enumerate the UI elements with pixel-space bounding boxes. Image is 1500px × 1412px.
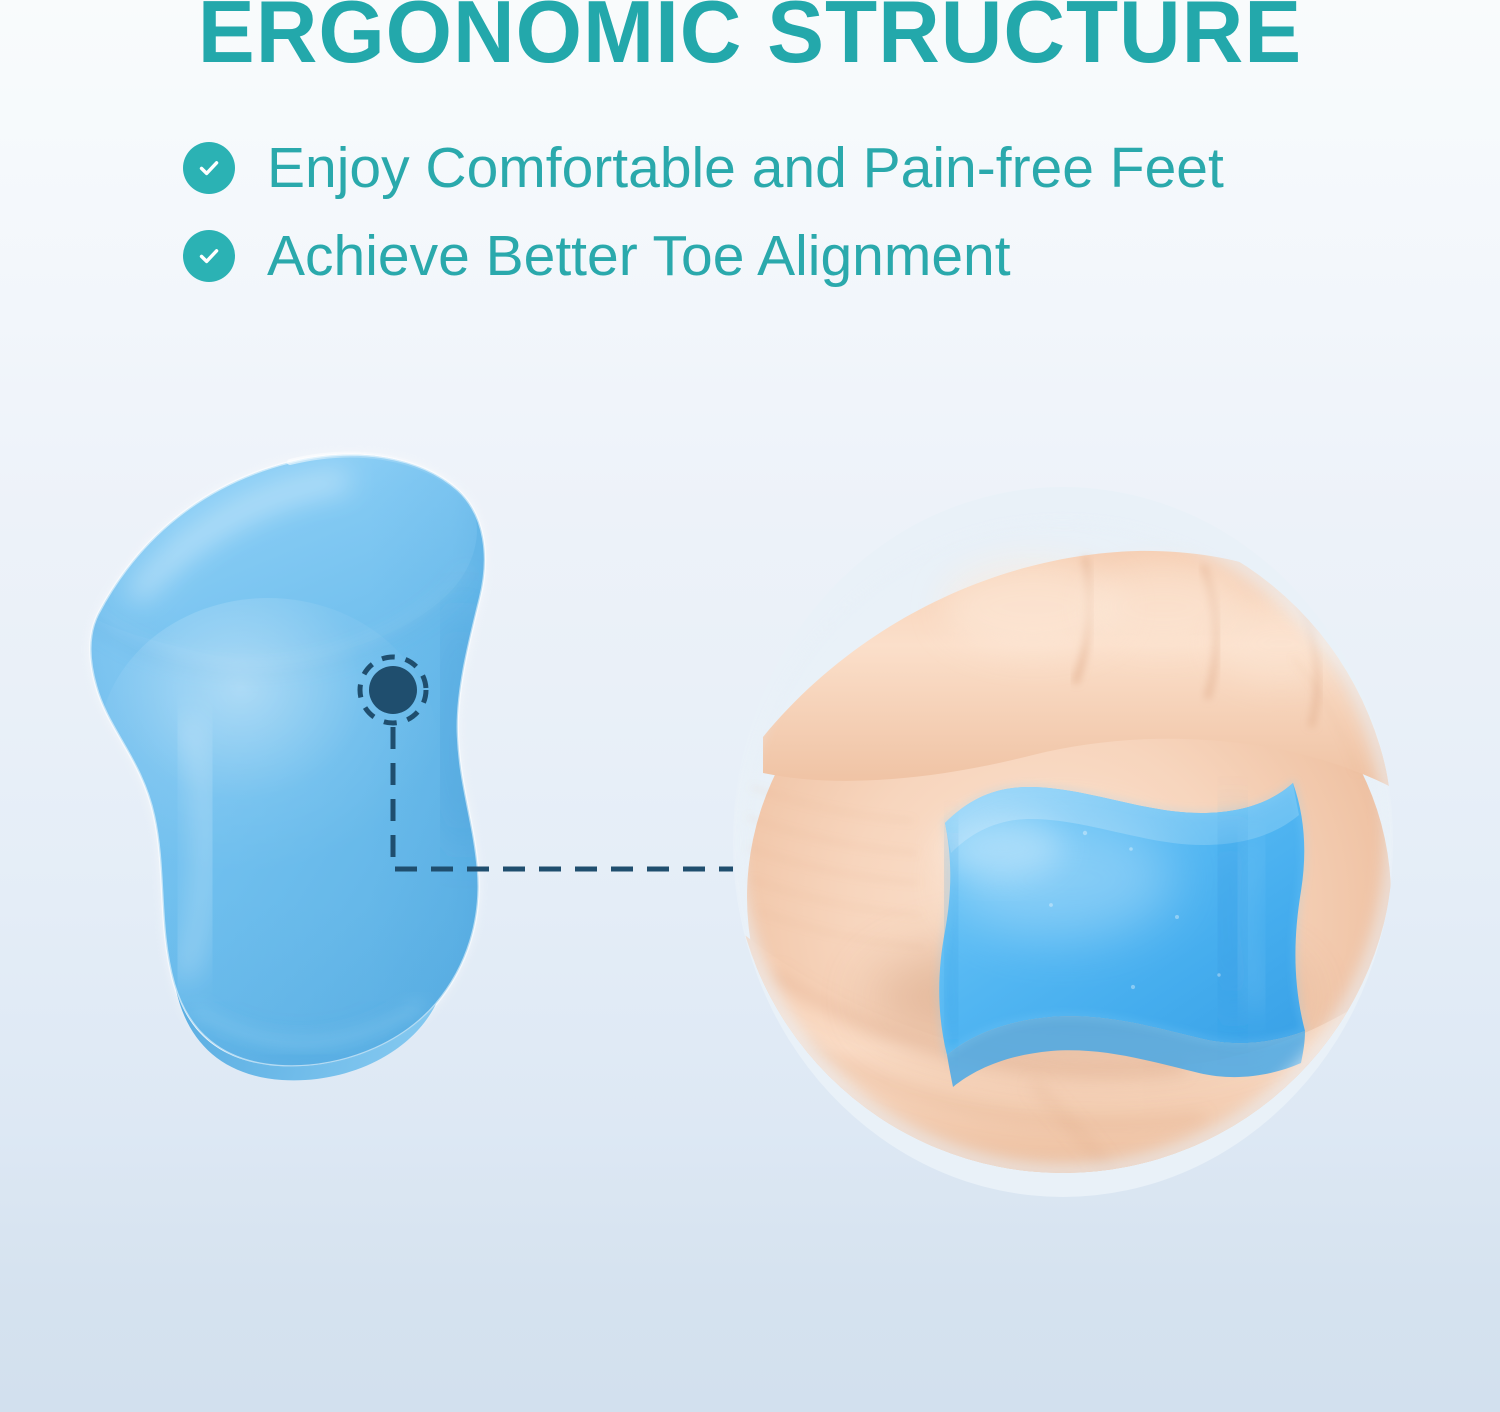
check-circle-icon	[183, 230, 235, 282]
list-item: Achieve Better Toe Alignment	[183, 212, 1383, 300]
check-circle-icon	[183, 142, 235, 194]
list-item-label: Enjoy Comfortable and Pain-free Feet	[267, 140, 1224, 197]
header: ERGONOMIC STRUCTURE Enjoy Comfortable an…	[0, 0, 1500, 300]
list-item-label: Achieve Better Toe Alignment	[267, 228, 1011, 285]
list-item: Enjoy Comfortable and Pain-free Feet	[183, 124, 1383, 212]
benefit-bullet-list: Enjoy Comfortable and Pain-free Feet Ach…	[183, 124, 1383, 300]
gel-toe-separator-render	[38, 418, 578, 1138]
hand-holding-gel-separator-photo	[733, 487, 1393, 1197]
page-title: ERGONOMIC STRUCTURE	[23, 0, 1478, 76]
gel-separator-in-hand	[939, 783, 1305, 1087]
product-feature-banner: ERGONOMIC STRUCTURE Enjoy Comfortable an…	[0, 0, 1500, 1412]
